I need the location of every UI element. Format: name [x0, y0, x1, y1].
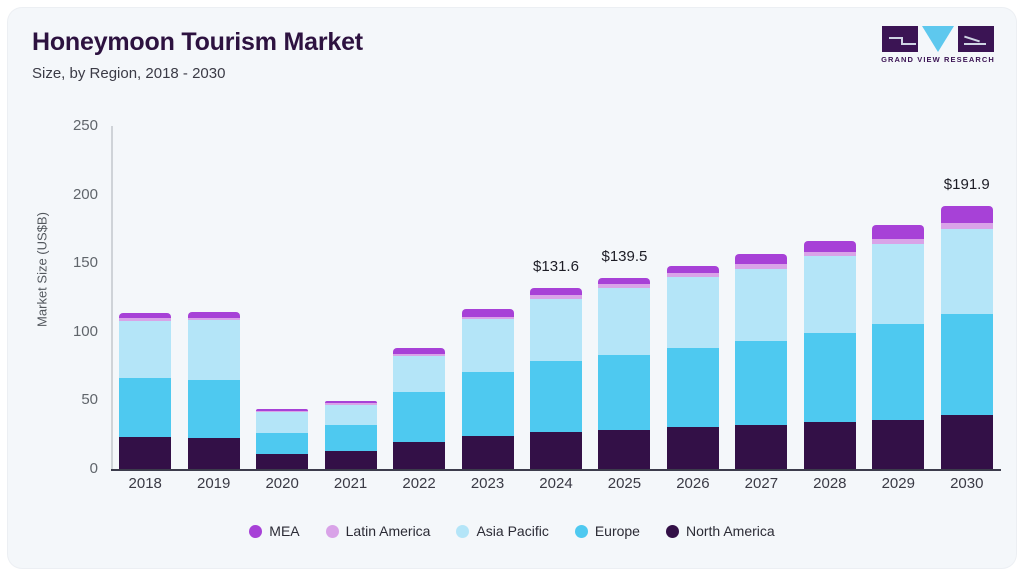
legend-label: Europe — [595, 523, 640, 539]
grand-view-research-logo: GRAND VIEW RESEARCH — [878, 26, 998, 71]
bar-segment-asia-pacific[interactable] — [804, 256, 856, 332]
bar-segment-asia-pacific[interactable] — [188, 320, 240, 380]
legend-swatch-icon — [249, 525, 262, 538]
bar-segment-europe[interactable] — [530, 361, 582, 432]
bar-segment-north-america[interactable] — [667, 427, 719, 469]
x-axis-tick-2023: 2023 — [471, 475, 504, 492]
bar-segment-latin-america[interactable] — [941, 223, 993, 229]
bar-group-2021[interactable]: 2021 — [316, 126, 384, 469]
bar-segment-asia-pacific[interactable] — [119, 321, 171, 378]
legend-label: MEA — [269, 523, 299, 539]
bar-group-2020[interactable]: 2020 — [248, 126, 316, 469]
bar-segment-europe[interactable] — [325, 425, 377, 452]
bar-segment-mea[interactable] — [941, 206, 993, 223]
bar-segment-latin-america[interactable] — [598, 284, 650, 288]
bar-segment-europe[interactable] — [598, 355, 650, 430]
bar-segment-latin-america[interactable] — [325, 403, 377, 404]
bar-segment-europe[interactable] — [804, 333, 856, 423]
bar-segment-europe[interactable] — [188, 380, 240, 438]
x-axis-tick-2024: 2024 — [539, 475, 572, 492]
x-axis-tick-2018: 2018 — [129, 475, 162, 492]
y-axis-tick-150: 150 — [38, 254, 98, 271]
bar-segment-europe[interactable] — [667, 348, 719, 427]
x-axis-tick-2028: 2028 — [813, 475, 846, 492]
bar-group-2022[interactable]: 2022 — [385, 126, 453, 469]
x-axis-tick-2022: 2022 — [402, 475, 435, 492]
logo-mark-3 — [901, 43, 916, 45]
legend-swatch-icon — [575, 525, 588, 538]
bar-segment-mea[interactable] — [188, 312, 240, 317]
legend-label: Latin America — [346, 523, 431, 539]
bar-segment-latin-america[interactable] — [188, 318, 240, 321]
data-label-2025: $139.5 — [601, 248, 647, 265]
x-axis-tick-2019: 2019 — [197, 475, 230, 492]
bar-segment-north-america[interactable] — [462, 436, 514, 469]
y-axis-tick-labels: 050100150200250 — [30, 126, 98, 469]
bar-group-2018[interactable]: 2018 — [111, 126, 179, 469]
x-axis-tick-2020: 2020 — [265, 475, 298, 492]
legend-item-asia-pacific[interactable]: Asia Pacific — [456, 523, 548, 539]
bar-segment-latin-america[interactable] — [119, 318, 171, 321]
bar-segment-mea[interactable] — [735, 254, 787, 264]
y-axis-tick-250: 250 — [38, 117, 98, 134]
bar-segment-north-america[interactable] — [941, 415, 993, 469]
chart-subtitle: Size, by Region, 2018 - 2030 — [32, 65, 225, 82]
bar-segment-asia-pacific[interactable] — [598, 288, 650, 355]
plot-area: 2018201920202021202220232024$131.62025$1… — [111, 126, 1001, 469]
legend-item-latin-america[interactable]: Latin America — [326, 523, 431, 539]
bar-group-2029[interactable]: 2029 — [864, 126, 932, 469]
x-axis-tick-2030: 2030 — [950, 475, 983, 492]
y-axis-tick-200: 200 — [38, 186, 98, 203]
bar-segment-asia-pacific[interactable] — [325, 405, 377, 425]
bar-segment-north-america[interactable] — [393, 442, 445, 469]
bar-segment-latin-america[interactable] — [256, 411, 308, 412]
x-axis-tick-2025: 2025 — [608, 475, 641, 492]
logo-text: GRAND VIEW RESEARCH — [878, 55, 998, 64]
bar-segment-asia-pacific[interactable] — [462, 319, 514, 371]
bar-group-2030[interactable]: 2030$191.9 — [933, 126, 1001, 469]
bar-segment-north-america[interactable] — [119, 437, 171, 469]
bar-segment-europe[interactable] — [393, 392, 445, 442]
bar-segment-mea[interactable] — [804, 241, 856, 252]
bar-segment-mea[interactable] — [119, 313, 171, 318]
bar-segment-north-america[interactable] — [256, 454, 308, 469]
bar-segment-asia-pacific[interactable] — [393, 356, 445, 392]
bar-segment-mea[interactable] — [667, 266, 719, 273]
legend-swatch-icon — [326, 525, 339, 538]
legend-swatch-icon — [666, 525, 679, 538]
bar-segment-mea[interactable] — [462, 309, 514, 317]
bar-group-2025[interactable]: 2025$139.5 — [590, 126, 658, 469]
y-axis-tick-0: 0 — [38, 460, 98, 477]
bar-segment-mea[interactable] — [256, 409, 308, 411]
x-axis-line — [111, 469, 1001, 471]
bar-segment-north-america[interactable] — [804, 422, 856, 469]
legend-label: North America — [686, 523, 775, 539]
bar-segment-europe[interactable] — [941, 314, 993, 415]
bar-group-2027[interactable]: 2027 — [727, 126, 795, 469]
bar-segment-mea[interactable] — [872, 225, 924, 238]
bar-segment-latin-america[interactable] — [667, 273, 719, 277]
bar-segment-asia-pacific[interactable] — [872, 244, 924, 324]
legend-item-europe[interactable]: Europe — [575, 523, 640, 539]
chart-card: Honeymoon Tourism Market Size, by Region… — [8, 8, 1016, 568]
bar-segment-latin-america[interactable] — [393, 354, 445, 356]
data-label-2030: $191.9 — [944, 176, 990, 193]
bar-segment-europe[interactable] — [119, 378, 171, 437]
bar-segment-latin-america[interactable] — [804, 252, 856, 257]
bar-segment-latin-america[interactable] — [462, 317, 514, 320]
bar-segment-asia-pacific[interactable] — [735, 269, 787, 341]
bar-segment-europe[interactable] — [462, 372, 514, 436]
bar-group-2026[interactable]: 2026 — [659, 126, 727, 469]
bar-segment-north-america[interactable] — [735, 425, 787, 469]
x-axis-tick-2021: 2021 — [334, 475, 367, 492]
bar-segment-mea[interactable] — [393, 348, 445, 353]
chart-legend: MEALatin AmericaAsia PacificEuropeNorth … — [8, 523, 1016, 539]
y-axis-tick-50: 50 — [38, 391, 98, 408]
bar-segment-north-america[interactable] — [872, 420, 924, 469]
bar-segment-latin-america[interactable] — [735, 264, 787, 269]
x-axis-tick-2027: 2027 — [745, 475, 778, 492]
bar-segment-mea[interactable] — [530, 288, 582, 295]
legend-item-north-america[interactable]: North America — [666, 523, 775, 539]
bar-group-2019[interactable]: 2019 — [179, 126, 247, 469]
bar-group-2024[interactable]: 2024$131.6 — [522, 126, 590, 469]
page-title: Honeymoon Tourism Market — [32, 28, 363, 57]
bar-segment-asia-pacific[interactable] — [530, 299, 582, 361]
bar-segment-mea[interactable] — [598, 278, 650, 284]
logo-square-left — [882, 26, 918, 52]
bar-segment-asia-pacific[interactable] — [667, 277, 719, 348]
bar-group-2023[interactable]: 2023 — [453, 126, 521, 469]
bar-segment-latin-america[interactable] — [530, 295, 582, 298]
bar-segment-europe[interactable] — [256, 433, 308, 454]
bar-segment-europe[interactable] — [735, 341, 787, 425]
legend-label: Asia Pacific — [476, 523, 548, 539]
bar-group-2028[interactable]: 2028 — [796, 126, 864, 469]
legend-item-mea[interactable]: MEA — [249, 523, 299, 539]
y-axis-tick-100: 100 — [38, 323, 98, 340]
legend-swatch-icon — [456, 525, 469, 538]
bar-segment-north-america[interactable] — [598, 430, 650, 469]
data-label-2024: $131.6 — [533, 258, 579, 275]
bar-segment-europe[interactable] — [872, 324, 924, 419]
bar-segment-north-america[interactable] — [188, 438, 240, 469]
logo-triangle-icon — [922, 26, 954, 52]
bar-segment-north-america[interactable] — [530, 432, 582, 469]
logo-mark-5 — [964, 43, 986, 45]
bar-segment-latin-america[interactable] — [872, 239, 924, 244]
x-axis-tick-2026: 2026 — [676, 475, 709, 492]
bar-segment-north-america[interactable] — [325, 451, 377, 469]
bar-segment-asia-pacific[interactable] — [256, 412, 308, 433]
bar-segment-asia-pacific[interactable] — [941, 229, 993, 314]
x-axis-tick-2029: 2029 — [882, 475, 915, 492]
